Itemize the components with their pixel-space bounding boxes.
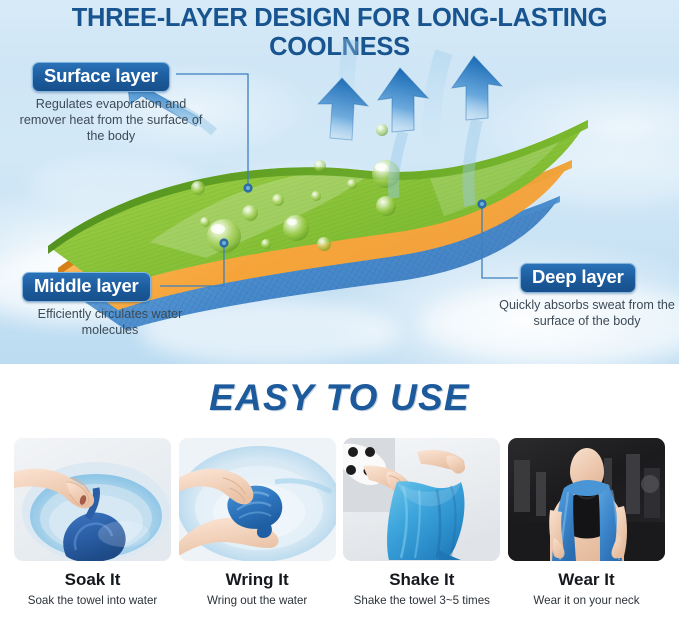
step-wring-it: Wring It Wring out the water <box>179 438 336 608</box>
step-soak-it: Soak It Soak the towel into water <box>14 438 171 608</box>
step-shake-it-description: Shake the towel 3~5 times <box>343 593 500 608</box>
step-shake-it-photo <box>343 438 500 561</box>
callout-middle-layer-label: Middle layer <box>22 272 151 302</box>
step-wear-it-description: Wear it on your neck <box>508 593 665 608</box>
step-wear-it-title: Wear It <box>508 570 665 590</box>
usage-steps: Soak It Soak the towel into water <box>0 438 679 608</box>
product-infographic: THREE-LAYER DESIGN FOR LONG-LASTING COOL… <box>0 0 679 631</box>
three-layer-section: THREE-LAYER DESIGN FOR LONG-LASTING COOL… <box>0 0 679 364</box>
step-wring-it-photo <box>179 438 336 561</box>
callout-deep-layer-label: Deep layer <box>520 263 636 293</box>
step-soak-it-description: Soak the towel into water <box>14 593 171 608</box>
step-wring-it-description: Wring out the water <box>179 593 336 608</box>
callout-middle-layer-description: Efficiently circulates water molecules <box>10 307 210 339</box>
callout-surface-layer: Surface layer Regulates evaporation and … <box>14 62 208 145</box>
easy-to-use-title: EASY TO USE <box>0 377 679 419</box>
callout-surface-layer-description: Regulates evaporation and remover heat f… <box>14 97 208 145</box>
step-shake-it: Shake It Shake the towel 3~5 times <box>343 438 500 608</box>
callout-deep-layer: Deep layer Quickly absorbs sweat from th… <box>498 263 676 330</box>
callout-surface-layer-label: Surface layer <box>32 62 170 92</box>
step-wring-it-title: Wring It <box>179 570 336 590</box>
step-wear-it-photo <box>508 438 665 561</box>
step-soak-it-photo <box>14 438 171 561</box>
step-wear-it: Wear It Wear it on your neck <box>508 438 665 608</box>
step-shake-it-title: Shake It <box>343 570 500 590</box>
callout-deep-layer-description: Quickly absorbs sweat from the surface o… <box>498 298 676 330</box>
callout-middle-layer: Middle layer Efficiently circulates wate… <box>10 272 210 339</box>
step-soak-it-title: Soak It <box>14 570 171 590</box>
